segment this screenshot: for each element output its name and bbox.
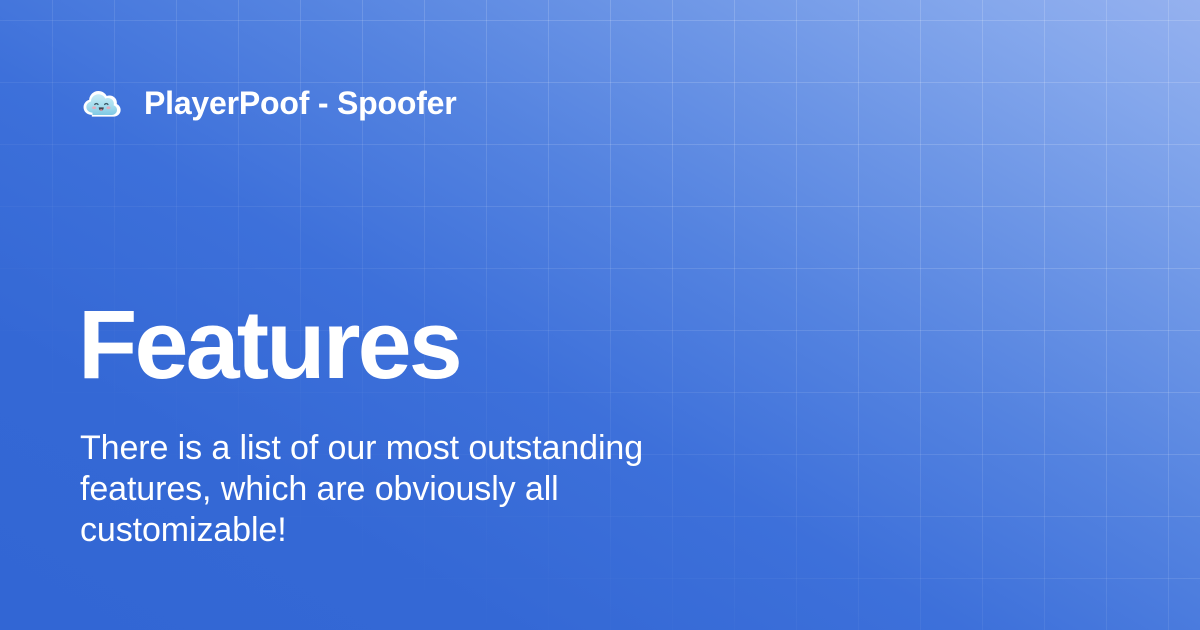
page-subtitle: There is a list of our most outstanding …: [80, 428, 740, 551]
brand-title: PlayerPoof - Spoofer: [144, 87, 457, 119]
og-card: PlayerPoof - Spoofer Features There is a…: [0, 0, 1200, 630]
smiling-cloud-icon: [80, 82, 122, 124]
brand-header: PlayerPoof - Spoofer: [80, 80, 457, 126]
card-content: PlayerPoof - Spoofer Features There is a…: [0, 0, 1200, 630]
page-title: Features: [78, 296, 460, 393]
